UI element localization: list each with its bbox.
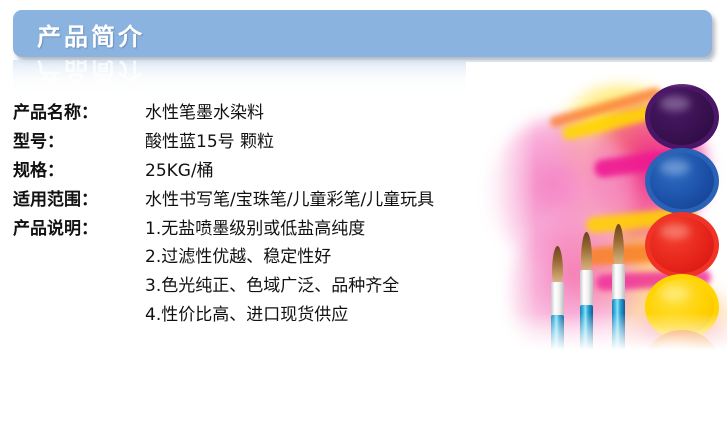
red-paint-pot <box>645 212 719 278</box>
purple-paint-pot <box>645 84 719 150</box>
description-item-4: 4.性价比高、进口现货供应 <box>13 301 493 330</box>
paint-gloss-highlight <box>660 96 689 112</box>
spec-label-product-name: 产品名称： <box>13 99 145 128</box>
spec-value-description-item-1: 1.无盐喷墨级别或低盐高纯度 <box>145 215 365 244</box>
spec-row-product-name: 产品名称：水性笔墨水染料 <box>13 98 493 127</box>
purple-paint-surface <box>650 89 714 145</box>
spec-label-application-scope: 适用范围： <box>13 186 145 215</box>
product-photo <box>466 62 727 355</box>
spec-row-application-scope: 适用范围：水性书写笔/宝珠笔/儿童彩笔/儿童玩具 <box>13 185 493 214</box>
spec-value-product-name: 水性笔墨水染料 <box>145 99 264 128</box>
paint-gloss-highlight <box>660 286 689 302</box>
spec-row-model: 型号：酸性蓝15号 颗粒 <box>13 127 493 156</box>
blue-paint-pot <box>645 148 719 214</box>
red-paint-surface <box>650 217 714 273</box>
spec-label-product-description: 产品说明： <box>13 215 145 244</box>
paint-gloss-highlight <box>660 160 689 176</box>
spec-row-specification: 规格：25KG/桶 <box>13 156 493 185</box>
brush-ferrule <box>580 270 593 306</box>
spec-label-specification: 规格： <box>13 157 145 186</box>
spec-value-model: 酸性蓝15号 颗粒 <box>145 128 274 157</box>
brush-ferrule <box>551 282 564 316</box>
spec-value-specification: 25KG/桶 <box>145 157 214 186</box>
brush-ferrule <box>612 264 625 300</box>
blue-paint-surface <box>650 153 714 209</box>
product-spec-list: 产品名称：水性笔墨水染料 型号：酸性蓝15号 颗粒 规格：25KG/桶 适用范围… <box>13 98 493 330</box>
spec-label-model: 型号： <box>13 128 145 157</box>
description-item-2: 2.过滤性优越、稳定性好 <box>13 243 493 272</box>
description-item-3: 3.色光纯正、色域广泛、品种齐全 <box>13 272 493 301</box>
paint-gloss-highlight <box>660 224 689 240</box>
header-banner: 产品简介 <box>13 10 712 57</box>
spec-row-product-description: 产品说明：1.无盐喷墨级别或低盐高纯度 <box>13 214 493 243</box>
photo-fade-bottom <box>466 313 727 355</box>
spec-value-application-scope: 水性书写笔/宝珠笔/儿童彩笔/儿童玩具 <box>145 186 434 215</box>
page-title: 产品简介 <box>37 17 145 52</box>
photo-fade-left <box>466 62 536 355</box>
